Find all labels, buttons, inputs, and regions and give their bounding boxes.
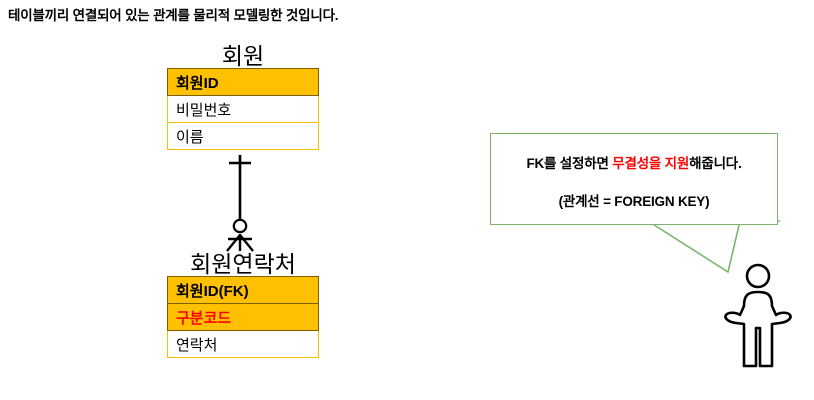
column-member-name: 이름 xyxy=(168,123,319,150)
column-member-password: 비밀번호 xyxy=(168,96,319,123)
entity-member-contact-table: 회원ID(FK) 구분코드 연락처 xyxy=(167,276,319,358)
entity-member: 회원 회원ID 비밀번호 이름 xyxy=(167,44,319,150)
callout-line-2: (관계선 = FOREIGN KEY) xyxy=(491,190,777,210)
column-contact-member-id-fk: 회원ID(FK) xyxy=(168,277,319,304)
column-member-id: 회원ID xyxy=(168,69,319,96)
table-row: 연락처 xyxy=(168,331,319,358)
crows-foot-right xyxy=(240,235,253,251)
table-row: 회원ID xyxy=(168,69,319,96)
table-row: 회원ID(FK) xyxy=(168,277,319,304)
table-row: 이름 xyxy=(168,123,319,150)
callout-text-post: 해줍니다. xyxy=(689,156,741,171)
relationship-line-crows-foot xyxy=(200,155,280,255)
callout-line-1: FK를 설정하면 무결성을 지원해줍니다. xyxy=(491,152,777,172)
entity-member-title: 회원 xyxy=(167,44,319,68)
crows-foot-left xyxy=(227,235,240,251)
entity-member-contact-title: 회원연락처 xyxy=(167,252,319,276)
table-row: 비밀번호 xyxy=(168,96,319,123)
table-row: 구분코드 xyxy=(168,304,319,331)
entity-member-contact: 회원연락처 회원ID(FK) 구분코드 연락처 xyxy=(167,252,319,358)
callout-text-pre: FK를 설정하면 xyxy=(526,156,612,171)
callout-tail-shape xyxy=(600,221,780,272)
entity-member-table: 회원ID 비밀번호 이름 xyxy=(167,68,319,150)
callout-tail xyxy=(600,218,780,280)
callout-bubble: FK를 설정하면 무결성을 지원해줍니다. (관계선 = FOREIGN KEY… xyxy=(490,133,778,225)
person-body xyxy=(725,292,790,366)
callout-text-highlight: 무결성을 지원 xyxy=(612,156,689,171)
cardinality-zero-circle xyxy=(234,220,246,232)
column-contact-phone: 연락처 xyxy=(168,331,319,358)
page-title: 테이블끼리 연결되어 있는 관계를 물리적 모델링한 것입니다. xyxy=(8,4,338,24)
column-contact-type-code: 구분코드 xyxy=(168,304,319,331)
